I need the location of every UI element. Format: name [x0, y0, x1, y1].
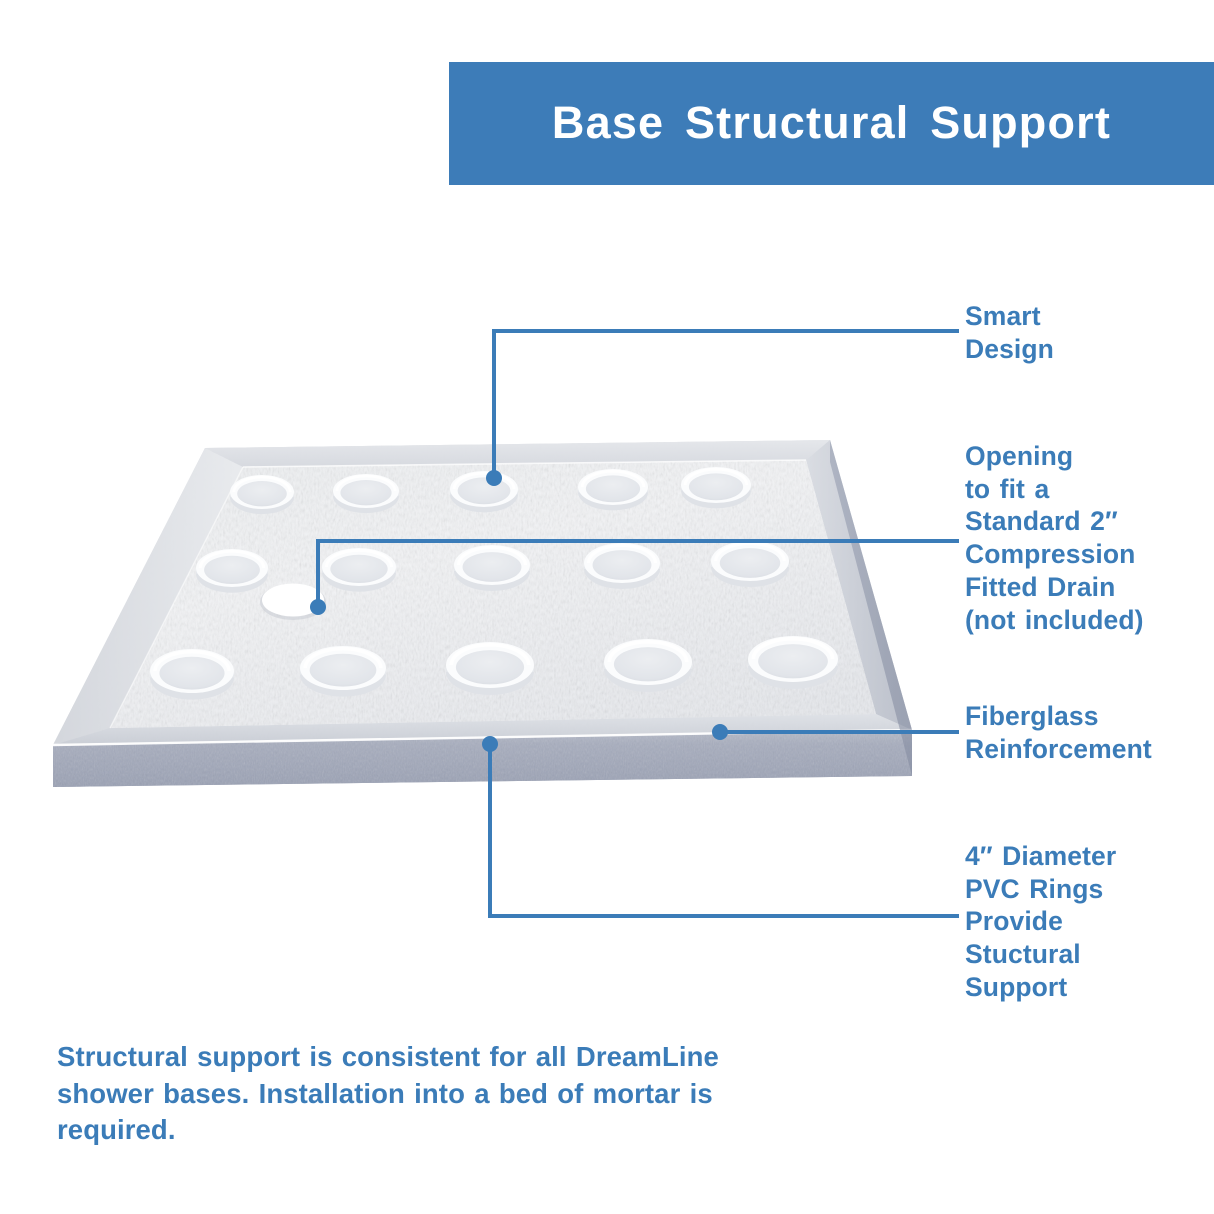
callout-pvc-rings-support-line-4: Stuctural: [965, 938, 1116, 971]
callout-drain-opening-line-2: to fit a: [965, 473, 1144, 506]
pvc-ring: [604, 639, 692, 692]
pvc-ring: [584, 543, 660, 589]
pvc-ring: [230, 475, 294, 514]
pvc-ring: [196, 549, 268, 593]
callout-drain-opening-line-4: Compression: [965, 538, 1144, 571]
pvc-ring: [446, 642, 534, 695]
pvc-ring: [681, 467, 751, 508]
callout-smart-design-line-2: Design: [965, 333, 1054, 366]
pvc-ring: [454, 545, 530, 591]
callout-pvc-rings-support-line-2: PVC Rings: [965, 873, 1116, 906]
callout-label-smart-design: SmartDesign: [965, 300, 1054, 365]
callout-fiberglass-reinforcement-line-1: Fiberglass: [965, 700, 1152, 733]
pvc-ring: [578, 469, 648, 510]
pvc-ring: [450, 471, 518, 512]
pvc-ring: [748, 636, 838, 689]
header-banner: Base Structural Support: [449, 62, 1214, 185]
callout-pvc-rings-support-line-5: Support: [965, 971, 1116, 1004]
callout-drain-opening-line-5: Fitted Drain: [965, 571, 1144, 604]
pvc-ring: [711, 541, 789, 587]
pvc-ring: [150, 649, 234, 700]
pvc-ring: [322, 548, 396, 592]
callout-smart-design-line-1: Smart: [965, 300, 1054, 333]
callout-label-drain-opening: Openingto fit aStandard 2″CompressionFit…: [965, 440, 1144, 636]
pvc-ring: [333, 474, 399, 513]
pvc-ring: [300, 646, 386, 697]
callout-pvc-rings-support-line-1: 4″ Diameter: [965, 840, 1116, 873]
callout-pvc-rings-support-line-3: Provide: [965, 905, 1116, 938]
callout-drain-opening-line-1: Opening: [965, 440, 1144, 473]
callout-label-pvc-rings-support: 4″ DiameterPVC RingsProvideStucturalSupp…: [965, 840, 1116, 1004]
infographic-page: Base Structural Support SmartDesign Open…: [0, 0, 1214, 1214]
callout-drain-opening-line-6: (not included): [965, 604, 1144, 637]
footer-note: Structural support is consistent for all…: [57, 1039, 817, 1149]
callout-label-fiberglass-reinforcement: FiberglassReinforcement: [965, 700, 1152, 765]
callout-fiberglass-reinforcement-line-2: Reinforcement: [965, 733, 1152, 766]
callout-drain-opening-line-3: Standard 2″: [965, 505, 1144, 538]
page-title: Base Structural Support: [552, 100, 1111, 145]
